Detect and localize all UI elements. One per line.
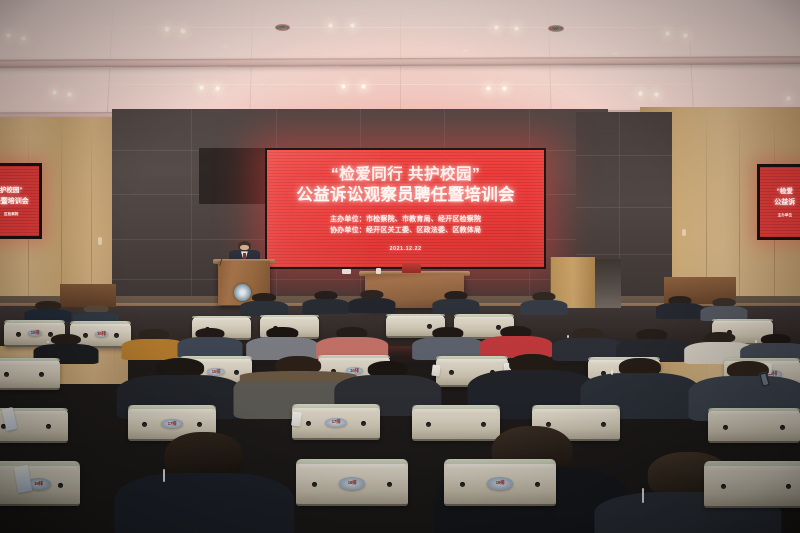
ceiling-downlight [664, 30, 671, 37]
seat[interactable]: 19排 [444, 459, 556, 506]
seat-row-tag: 17排 [168, 421, 177, 427]
led-organizer-line: 主办单位：市检察院、市教育局、经开区检察院 [330, 215, 481, 226]
seat-row-tag: 17排 [332, 419, 341, 425]
ceiling-downlight [493, 24, 500, 31]
led-organizer-block: 主办单位：市检察院、市教育局、经开区检察院 协办单位：经开区关工委、区政法委、区… [330, 215, 481, 237]
attendee [488, 326, 544, 357]
led-date: 2021.12.22 [390, 246, 422, 252]
main-led-screen: “检爱同行 共护校园” 公益诉讼观察员聘任暨培训会 主办单位：市检察院、市教育局… [265, 148, 547, 268]
attendee [28, 301, 68, 321]
attendee [704, 298, 744, 320]
wall-dark-panel [199, 148, 273, 205]
seat[interactable] [0, 358, 60, 389]
ceiling-downlight [785, 95, 792, 102]
wall-sconce [682, 229, 686, 236]
ceiling-downlight [66, 91, 73, 98]
ceiling-downlight [214, 85, 221, 92]
table-item [342, 269, 351, 274]
attendee [244, 293, 284, 315]
ceiling-downlight [198, 84, 205, 91]
ceiling-downlight [340, 83, 347, 90]
ceiling-downlight [360, 83, 367, 90]
led-title-line2: 公益诉讼观察员聘任暨培训会 [296, 185, 514, 206]
attendee [306, 291, 346, 313]
seat-row-tag: 15排 [31, 330, 40, 336]
wall-sconce [98, 237, 102, 245]
ceiling-downlight [179, 27, 187, 35]
seat[interactable]: 19排 [296, 459, 408, 506]
handout-paper [431, 365, 440, 377]
led-title-line1: “检爱同行 共护校园” [331, 165, 480, 184]
side-right-subtitle: 主办单位 [778, 212, 792, 218]
seat-row-tag: 16排 [97, 331, 106, 337]
conference-hall-photo: 护校园” 任暨培训会 区检察院 “检爱同行 共护校园” 公益诉讼观察员聘任暨培训… [0, 0, 800, 533]
ceiling-downlight [513, 25, 520, 32]
attendee [254, 327, 310, 358]
seat-row-tag: 19排 [34, 481, 43, 487]
seat[interactable]: 17排 [292, 404, 380, 440]
attendee [324, 327, 380, 358]
ceiling-downlight [327, 22, 334, 29]
side-left-title2: 任暨培训会 [0, 196, 29, 206]
attendee [352, 290, 392, 312]
attendee [660, 296, 700, 318]
attendee [184, 328, 236, 357]
ceiling-downlight [5, 32, 12, 39]
table-item [376, 268, 381, 274]
seat-row-tag: 19排 [348, 480, 357, 486]
attendee [524, 292, 564, 314]
attendee [624, 329, 680, 360]
door-opening [595, 259, 621, 308]
seat[interactable] [708, 408, 800, 444]
seat[interactable]: 19排 [0, 461, 80, 506]
ceiling-downlight [653, 91, 660, 98]
ceiling-downlight [485, 85, 492, 92]
ceiling-vent [275, 24, 290, 31]
audience-seating-area: 15排 16排 [0, 309, 800, 533]
ceiling-downlight [20, 35, 27, 42]
ceiling-downlight [682, 32, 689, 39]
side-right-title2: 公益诉 [774, 197, 795, 207]
seat-row-tag: 19排 [496, 480, 505, 486]
side-display-right: “检爱 公益诉 主办单位 [757, 164, 800, 240]
side-display-left: 护校园” 任暨培训会 区检察院 [0, 163, 42, 240]
led-coorganizer-line: 协办单位：经开区关工委、区政法委、区教体局 [330, 226, 481, 237]
attendee [420, 327, 476, 358]
side-left-subtitle: 区检察院 [4, 211, 18, 217]
ceiling-downlight [51, 89, 58, 96]
attendee [436, 291, 476, 313]
attendee [128, 329, 180, 358]
side-left-title1: 护校园” [0, 184, 23, 194]
attendee-foreground [136, 432, 272, 533]
table-red-object [402, 263, 420, 274]
side-right-title1: “检爱 [777, 185, 793, 195]
side-table-left [60, 284, 116, 307]
seat[interactable] [704, 461, 800, 508]
